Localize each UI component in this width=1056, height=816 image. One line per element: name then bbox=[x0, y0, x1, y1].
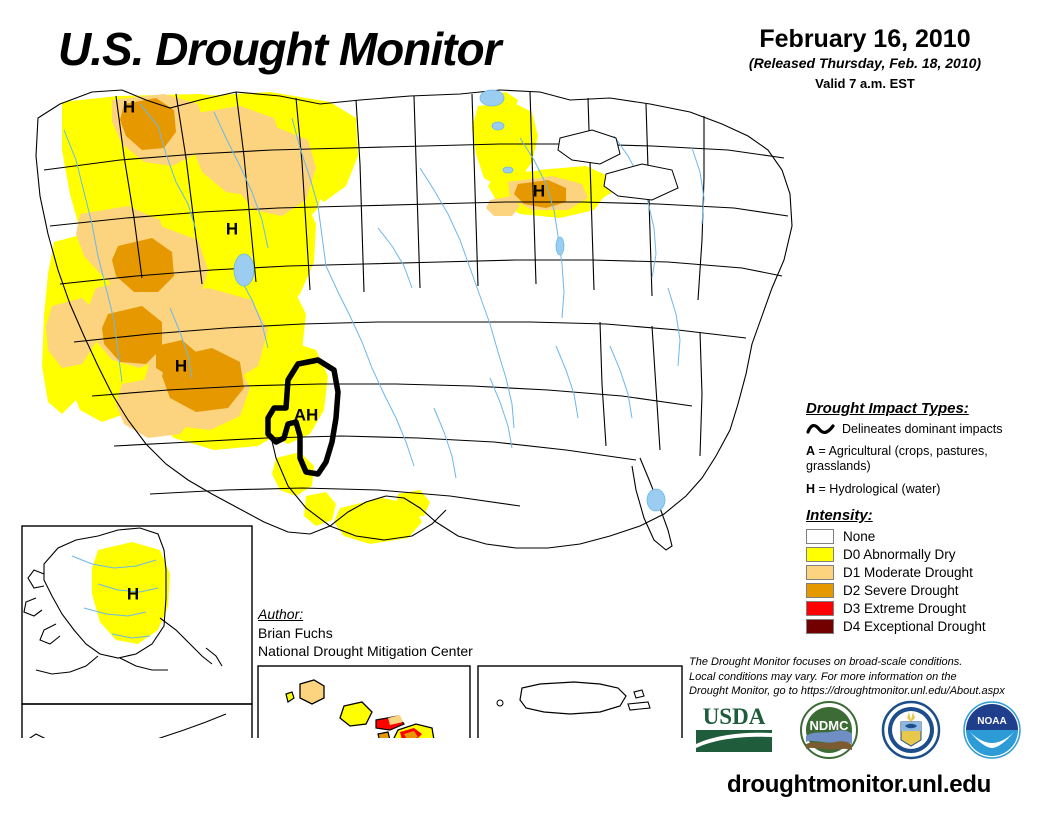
swatch-d0 bbox=[806, 547, 834, 562]
swatch-none bbox=[806, 529, 834, 544]
legend-category-d1: D1 Moderate Drought bbox=[806, 564, 1050, 581]
author-heading: Author: bbox=[258, 606, 473, 622]
author-block: Author: Brian Fuchs National Drought Mit… bbox=[258, 606, 473, 661]
legend-category-d3: D3 Extreme Drought bbox=[806, 600, 1050, 617]
label-wa-h: H bbox=[123, 97, 135, 116]
label-ak-h: H bbox=[127, 584, 139, 603]
hydrological-key: H bbox=[806, 482, 815, 496]
hydrological-text: = Hydrological (water) bbox=[819, 482, 941, 496]
delineates-label: Delineates dominant impacts bbox=[842, 422, 1003, 437]
label-nm-ah: AH bbox=[294, 405, 319, 424]
author-name: Brian Fuchs bbox=[258, 624, 473, 642]
label-az-h: H bbox=[175, 356, 187, 375]
disclaimer-line-3: Drought Monitor, go to https://droughtmo… bbox=[689, 684, 1009, 699]
delineates-row: Delineates dominant impacts bbox=[806, 422, 1050, 437]
author-organization: National Drought Mitigation Center bbox=[258, 642, 473, 660]
kauai bbox=[300, 680, 324, 704]
page-title: U.S. Drought Monitor bbox=[58, 22, 500, 76]
intensity-heading: Intensity: bbox=[806, 507, 1050, 524]
disclaimer-text: The Drought Monitor focuses on broad-sca… bbox=[689, 655, 1009, 699]
ndmc-logo: NDMC bbox=[799, 700, 859, 760]
disclaimer-line-2: Local conditions may vary. For more info… bbox=[689, 670, 1009, 685]
lanai bbox=[378, 732, 390, 738]
released-date: (Released Thursday, Feb. 18, 2010) bbox=[700, 55, 1030, 71]
swatch-d3 bbox=[806, 601, 834, 616]
partner-logos: USDA NDMC NOAA bbox=[692, 700, 1042, 762]
legend-category-d0: D0 Abnormally Dry bbox=[806, 546, 1050, 563]
disclaimer-line-1: The Drought Monitor focuses on broad-sca… bbox=[689, 655, 1009, 670]
legend-category-d4: D4 Exceptional Drought bbox=[806, 618, 1050, 635]
vieques bbox=[628, 702, 650, 710]
swatch-d4 bbox=[806, 619, 834, 634]
culebra bbox=[634, 690, 644, 698]
squiggle-icon bbox=[806, 422, 836, 436]
label-id-h: H bbox=[226, 219, 238, 238]
agricultural-text: = Agricultural (crops, pastures, grassla… bbox=[806, 444, 988, 473]
svg-text:NOAA: NOAA bbox=[977, 716, 1006, 727]
swatch-d1 bbox=[806, 565, 834, 580]
website-url: droughtmonitor.unl.edu bbox=[689, 771, 1029, 799]
alaska-inset: H bbox=[22, 526, 252, 738]
usdc-seal-logo bbox=[881, 700, 941, 760]
hawaii-inset: A bbox=[258, 666, 470, 738]
svg-text:NDMC: NDMC bbox=[810, 718, 850, 733]
agricultural-key: A bbox=[806, 444, 815, 458]
oahu bbox=[340, 702, 372, 726]
intensity-category-list: NoneD0 Abnormally DryD1 Moderate Drought… bbox=[806, 528, 1050, 635]
usda-logo: USDA bbox=[692, 700, 776, 758]
hydrological-definition: H = Hydrological (water) bbox=[806, 482, 1050, 497]
legend-category-d2: D2 Severe Drought bbox=[806, 582, 1050, 599]
svg-text:USDA: USDA bbox=[703, 704, 766, 729]
niihau bbox=[286, 692, 294, 702]
label-wi-h: H bbox=[533, 181, 545, 200]
swatch-d2 bbox=[806, 583, 834, 598]
legend-panel: Drought Impact Types: Delineates dominan… bbox=[806, 400, 1050, 636]
legend-category-label: D4 Exceptional Drought bbox=[843, 619, 986, 634]
puerto-rico-island bbox=[520, 682, 626, 714]
impact-types-heading: Drought Impact Types: bbox=[806, 400, 1050, 417]
legend-category-none: None bbox=[806, 528, 1050, 545]
legend-category-label: D1 Moderate Drought bbox=[843, 565, 973, 580]
legend-category-label: None bbox=[843, 529, 875, 544]
noaa-logo: NOAA bbox=[962, 700, 1022, 760]
valid-date: February 16, 2010 bbox=[700, 26, 1030, 52]
puerto-rico-inset bbox=[478, 666, 682, 738]
legend-category-label: D2 Severe Drought bbox=[843, 583, 959, 598]
agricultural-definition: A = Agricultural (crops, pastures, grass… bbox=[806, 444, 1050, 474]
legend-category-label: D0 Abnormally Dry bbox=[843, 547, 956, 562]
legend-category-label: D3 Extreme Drought bbox=[843, 601, 966, 616]
